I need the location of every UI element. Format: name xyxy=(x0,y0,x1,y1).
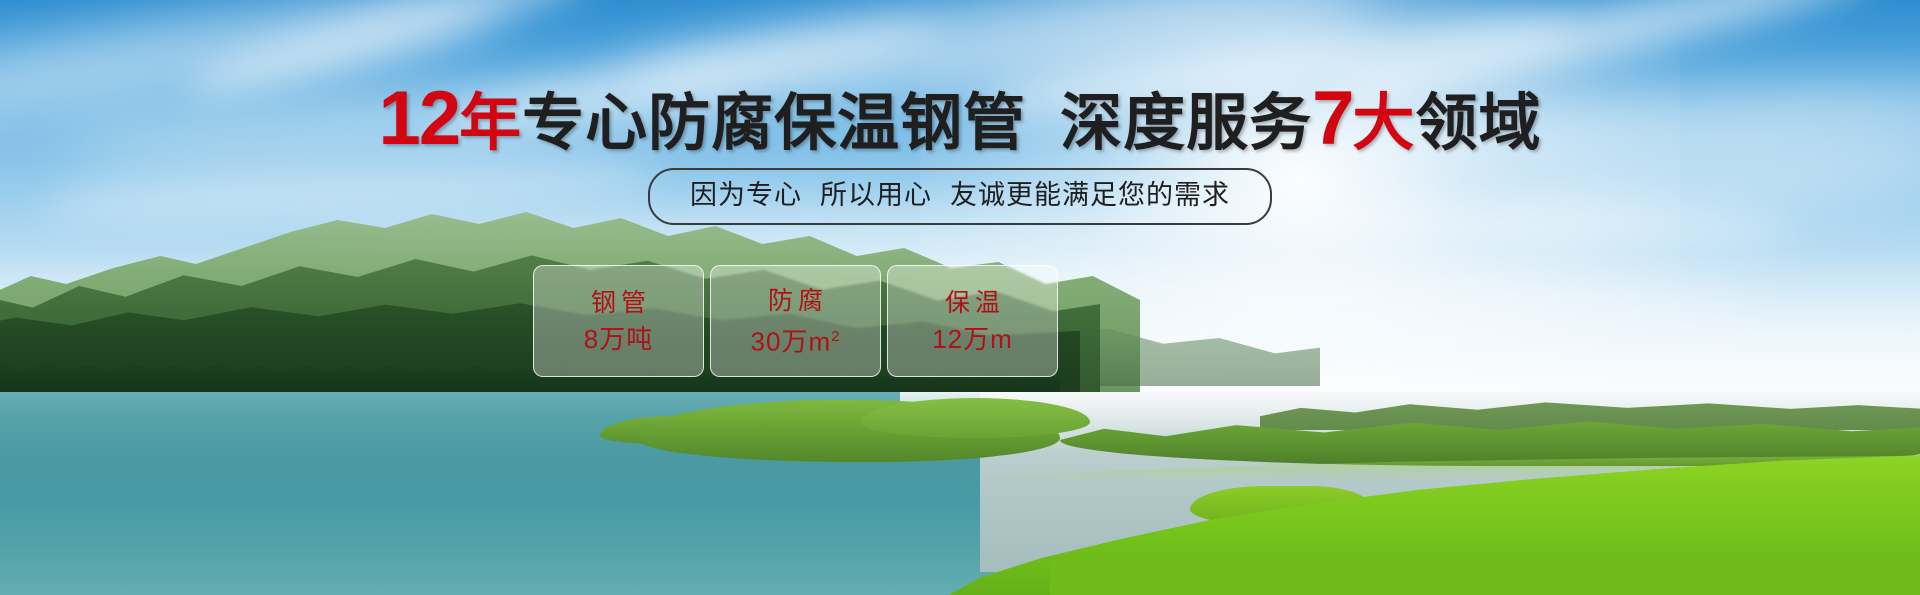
headline-years-unit: 年 xyxy=(459,89,522,158)
stat-value-unit: 万m xyxy=(963,324,1013,354)
stat-card-steel-pipe[interactable]: 钢管 8万吨 xyxy=(533,265,704,377)
foreground-grass-base xyxy=(1050,560,1920,595)
grass-island-secondary xyxy=(860,398,1090,438)
stat-value-superscript: 2 xyxy=(831,328,840,345)
stat-card-value: 8万吨 xyxy=(584,324,653,354)
headline-service-text: 深度服务 xyxy=(1060,89,1312,158)
stat-value-number: 8 xyxy=(584,324,599,354)
headline-lead-text: 专心防腐保温钢管 xyxy=(522,89,1026,158)
stat-card-title: 钢管 xyxy=(586,288,651,318)
stat-card-value: 30万m2 xyxy=(751,322,841,357)
stat-value-number: 12 xyxy=(932,324,963,354)
subtitle-part-1: 因为专心 xyxy=(690,180,802,210)
stat-card-title: 保温 xyxy=(940,288,1005,318)
stat-card-insulation[interactable]: 保温 12万m xyxy=(887,265,1058,377)
stat-card-group: 钢管 8万吨 防腐 30万m2 保温 12万m xyxy=(533,265,1058,377)
banner-headline: 12年专心防腐保温钢管深度服务7大领域 xyxy=(0,84,1920,159)
headline-fields-text: 领域 xyxy=(1415,89,1541,158)
stat-card-value: 12万m xyxy=(932,324,1013,354)
headline-years-number: 12 xyxy=(379,76,460,161)
subtitle-part-2: 所以用心 xyxy=(820,180,932,210)
subtitle-part-3: 友诚更能满足您的需求 xyxy=(950,180,1230,210)
headline-fields-big: 大 xyxy=(1352,89,1415,158)
stat-value-unit: 万吨 xyxy=(599,324,653,354)
hero-banner: 12年专心防腐保温钢管深度服务7大领域 因为专心所以用心友诚更能满足您的需求 钢… xyxy=(0,0,1920,595)
banner-subtitle-pill: 因为专心所以用心友诚更能满足您的需求 xyxy=(648,168,1272,225)
stat-value-unit: 万m xyxy=(781,326,831,356)
stat-value-number: 30 xyxy=(751,326,782,356)
stat-card-anticorrosion[interactable]: 防腐 30万m2 xyxy=(710,265,881,377)
headline-fields-number: 7 xyxy=(1312,76,1352,161)
stat-card-title: 防腐 xyxy=(763,286,828,316)
